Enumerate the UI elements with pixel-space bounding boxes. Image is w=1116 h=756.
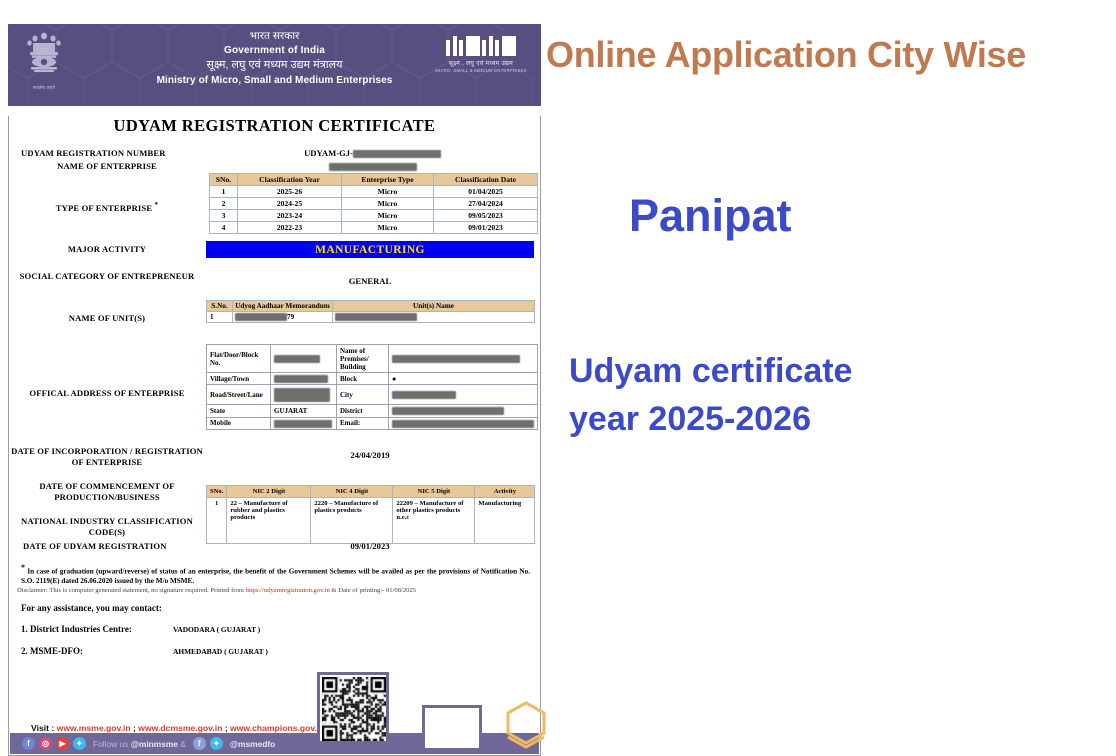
visit-link-dcmsme[interactable]: www.dcmsme.gov.in bbox=[138, 723, 222, 733]
twitter-icon[interactable]: ✦ bbox=[73, 737, 86, 750]
redacted-enterprise-name bbox=[329, 163, 417, 171]
assistance-heading: For any assistance, you may contact: bbox=[21, 603, 162, 613]
cell-activity: Manufacturing bbox=[475, 498, 535, 544]
cell-sno: 1 bbox=[207, 498, 227, 544]
reg-number-value: UDYAM-GJ- bbox=[205, 148, 540, 158]
follow-text: Follow us @minmsme & bbox=[93, 739, 186, 749]
msme-logo: सूक्ष्म , लघु एवं मध्यम उद्यम MICRO, SMA… bbox=[429, 34, 533, 73]
block-label: Block bbox=[337, 373, 389, 385]
col-classification-year: Classification Year bbox=[238, 174, 342, 186]
redacted-village bbox=[274, 375, 328, 383]
email-value bbox=[389, 417, 538, 429]
col-uam: Udyog Aadhaar Memorandum bbox=[233, 301, 333, 312]
ampersand: & bbox=[178, 739, 186, 749]
table-header-row: SNo. Classification Year Enterprise Type… bbox=[210, 174, 538, 186]
twitter-icon[interactable]: ✦ bbox=[210, 737, 223, 750]
handle-minmsme: @minmsme bbox=[131, 739, 178, 749]
redacted-uam bbox=[235, 313, 287, 321]
col-activity: Activity bbox=[475, 486, 535, 498]
name-of-units-label: NAME OF UNIT(S) bbox=[9, 313, 205, 324]
date-commencement-label: DATE OF COMMENCEMENT OF PRODUCTION/BUSIN… bbox=[9, 481, 205, 502]
reg-number-prefix: UDYAM-GJ- bbox=[304, 148, 353, 158]
table-row: 1 22 – Manufacture of rubber and plastic… bbox=[207, 498, 535, 544]
table-row: 1 79 bbox=[207, 312, 535, 323]
col-sno: S.No. bbox=[207, 301, 233, 312]
cell-date: 01/04/2025 bbox=[434, 186, 538, 198]
col-enterprise-type: Enterprise Type bbox=[342, 174, 434, 186]
date-incorporation-label: DATE OF INCORPORATION / REGISTRATION OF … bbox=[9, 446, 205, 467]
cell-year: 2023-24 bbox=[238, 210, 342, 222]
cell-year: 2025-26 bbox=[238, 186, 342, 198]
redacted-mobile bbox=[274, 420, 332, 428]
cell-sno: 1 bbox=[207, 312, 233, 323]
email-label: Email: bbox=[337, 417, 389, 429]
ministry-english: Ministry of Micro, Small and Medium Ente… bbox=[8, 74, 541, 88]
social-category-value: GENERAL bbox=[206, 276, 534, 286]
table-row: State GUJARAT District bbox=[207, 405, 538, 417]
major-activity-value: MANUFACTURING bbox=[206, 241, 534, 258]
date-incorporation-value: 24/04/2019 bbox=[206, 450, 534, 460]
signature-box bbox=[422, 705, 482, 751]
qr-canvas bbox=[322, 677, 386, 741]
nic-table-wrapper: SNo. NIC 2 Digit NIC 4 Digit NIC 5 Digit… bbox=[206, 485, 535, 544]
cell-sno: 4 bbox=[210, 222, 238, 234]
col-classification-date: Classification Date bbox=[434, 174, 538, 186]
units-table: S.No. Udyog Aadhaar Memorandum Unit(s) N… bbox=[206, 300, 535, 323]
cell-date: 27/04/2024 bbox=[434, 198, 538, 210]
table-row: 2 2024-25 Micro 27/04/2024 bbox=[210, 198, 538, 210]
premises-value bbox=[389, 345, 538, 373]
qr-code[interactable] bbox=[317, 672, 389, 744]
visit-sep: ; bbox=[222, 723, 230, 733]
district-label: District bbox=[337, 405, 389, 417]
msme-sub-hindi: सूक्ष्म , लघु एवं मध्यम उद्यम bbox=[429, 59, 533, 67]
type-of-enterprise-label: TYPE OF ENTERPRISE * bbox=[9, 201, 205, 214]
handle-msmedfo: @msmedfo bbox=[230, 739, 275, 749]
contact-dic: 1. District Industries Centre: VADODARA … bbox=[21, 624, 132, 634]
block-value: ● bbox=[389, 373, 538, 385]
facebook-icon[interactable]: f bbox=[22, 737, 35, 750]
cell-type: Micro bbox=[342, 186, 434, 198]
redacted-flat bbox=[274, 355, 320, 363]
classification-table-wrapper: SNo. Classification Year Enterprise Type… bbox=[209, 173, 538, 234]
cell-sno: 3 bbox=[210, 210, 238, 222]
cell-nic5: 22209 – Manufacture of other plastics pr… bbox=[393, 498, 475, 544]
cell-year: 2024-25 bbox=[238, 198, 342, 210]
cell-date: 09/01/2023 bbox=[434, 222, 538, 234]
table-row: 4 2022-23 Micro 09/01/2023 bbox=[210, 222, 538, 234]
classification-table: SNo. Classification Year Enterprise Type… bbox=[209, 173, 538, 234]
msme-sub-english: MICRO, SMALL & MEDIUM ENTERPRISES bbox=[429, 68, 533, 73]
msme-wordmark-icon bbox=[429, 34, 533, 56]
disclaimer-suffix: & Date of printing:- 01/08/2025 bbox=[330, 587, 416, 594]
cell-unit-name bbox=[333, 312, 535, 323]
table-header-row: SNo. NIC 2 Digit NIC 4 Digit NIC 5 Digit… bbox=[207, 486, 535, 498]
premises-label: Name of Premises/ Building bbox=[337, 345, 389, 373]
redacted-road bbox=[274, 388, 330, 402]
contact-dfo: 2. MSME-DFO: AHMEDABAD ( GUJARAT ) bbox=[21, 646, 83, 656]
follow-label: Follow us bbox=[93, 739, 131, 749]
social-category-label: SOCIAL CATEGORY OF ENTREPRENEUR bbox=[9, 271, 205, 282]
table-header-row: S.No. Udyog Aadhaar Memorandum Unit(s) N… bbox=[207, 301, 535, 312]
reg-number-label: UDYAM REGISTRATION NUMBER bbox=[9, 148, 205, 159]
certificate-body: UDYAM REGISTRATION CERTIFICATE UDYAM REG… bbox=[8, 116, 541, 756]
col-nic5: NIC 5 Digit bbox=[393, 486, 475, 498]
certificate-title: UDYAM REGISTRATION CERTIFICATE bbox=[9, 116, 540, 136]
address-table: Flat/Door/Block No. Name of Premises/ Bu… bbox=[206, 344, 538, 430]
district-value bbox=[389, 405, 538, 417]
col-nic2: NIC 2 Digit bbox=[227, 486, 311, 498]
village-label: Village/Town bbox=[207, 373, 271, 385]
table-row: Village/Town Block ● bbox=[207, 373, 538, 385]
contact-dic-label: 1. District Industries Centre: bbox=[21, 624, 132, 634]
cell-nic2: 22 – Manufacture of rubber and plastics … bbox=[227, 498, 311, 544]
official-address-label: OFFICAL ADDRESS OF ENTERPRISE bbox=[9, 388, 205, 399]
city-label: City bbox=[337, 385, 389, 405]
asterisk-icon: * bbox=[21, 563, 25, 572]
date-udyam-registration-label: DATE OF UDYAM REGISTRATION bbox=[9, 541, 205, 552]
table-row: Mobile Email: bbox=[207, 417, 538, 429]
cell-sno: 1 bbox=[210, 186, 238, 198]
contact-dfo-value: AHMEDABAD ( GUJARAT ) bbox=[173, 647, 268, 656]
flat-value bbox=[271, 345, 337, 373]
contact-dic-value: VADODARA ( GUJARAT ) bbox=[173, 625, 260, 634]
disclaimer-prefix: Disclaimer: This is computer generated s… bbox=[17, 587, 246, 594]
state-label: State bbox=[207, 405, 271, 417]
graduation-note: * In case of graduation (upward/reverse)… bbox=[21, 563, 530, 587]
cell-uam: 79 bbox=[233, 312, 333, 323]
disclaimer: Disclaimer: This is computer generated s… bbox=[17, 587, 532, 596]
redacted-district bbox=[392, 407, 504, 415]
visit-prefix: Visit : bbox=[31, 723, 57, 733]
visit-link-champions[interactable]: www.champions.gov.in bbox=[230, 723, 325, 733]
enterprise-name-value bbox=[205, 161, 540, 171]
nic-table: SNo. NIC 2 Digit NIC 4 Digit NIC 5 Digit… bbox=[206, 485, 535, 544]
road-label: Road/Street/Lane bbox=[207, 385, 271, 405]
cell-year: 2022-23 bbox=[238, 222, 342, 234]
redacted-premises bbox=[392, 355, 520, 363]
enterprise-name-label: NAME OF ENTERPRISE bbox=[9, 161, 205, 172]
promo-city-name: Panipat bbox=[629, 190, 792, 242]
flat-label: Flat/Door/Block No. bbox=[207, 345, 271, 373]
table-row: 1 2025-26 Micro 01/04/2025 bbox=[210, 186, 538, 198]
udyam-certificate: सत्यमेव जयते भारत सरकार Government of In… bbox=[8, 24, 541, 746]
redacted-city bbox=[392, 391, 456, 399]
nic-label: NATIONAL INDUSTRY CLASSIFICATION CODE(S) bbox=[9, 516, 205, 537]
city-value bbox=[389, 385, 538, 405]
promo-subtitle-line2: year 2025-2026 bbox=[569, 395, 852, 443]
youtube-icon[interactable]: ▶ bbox=[56, 737, 69, 750]
visit-link-msme[interactable]: www.msme.gov.in bbox=[57, 723, 131, 733]
contact-dfo-label: 2. MSME-DFO: bbox=[21, 646, 83, 656]
hexagon-decoration-icon bbox=[474, 695, 546, 755]
col-sno: SNo. bbox=[207, 486, 227, 498]
table-row: Road/Street/Lane City bbox=[207, 385, 538, 405]
address-table-wrapper: Flat/Door/Block No. Name of Premises/ Bu… bbox=[206, 344, 538, 430]
state-value: GUJARAT bbox=[271, 405, 337, 417]
cell-date: 09/05/2023 bbox=[434, 210, 538, 222]
promo-title: Online Application City Wise bbox=[546, 34, 1116, 76]
col-nic4: NIC 4 Digit bbox=[311, 486, 393, 498]
mobile-value bbox=[271, 417, 337, 429]
certificate-header: सत्यमेव जयते भारत सरकार Government of In… bbox=[8, 24, 541, 106]
date-udyam-registration-value: 09/01/2023 bbox=[206, 541, 534, 551]
col-sno: SNo. bbox=[210, 174, 238, 186]
cell-type: Micro bbox=[342, 222, 434, 234]
facebook-icon[interactable]: f bbox=[193, 737, 206, 750]
redacted-reg-number bbox=[353, 150, 441, 158]
cell-type: Micro bbox=[342, 210, 434, 222]
udyam-registration-link[interactable]: https://udyamregistration.gov.in bbox=[246, 587, 330, 594]
promo-subtitle: Udyam certificate year 2025-2026 bbox=[569, 347, 852, 444]
redacted-email bbox=[392, 420, 534, 428]
col-unit-name: Unit(s) Name bbox=[333, 301, 535, 312]
mobile-label: Mobile bbox=[207, 417, 271, 429]
note-text: In case of graduation (upward/reverse) o… bbox=[21, 567, 530, 585]
promo-subtitle-line1: Udyam certificate bbox=[569, 347, 852, 395]
table-row: Flat/Door/Block No. Name of Premises/ Bu… bbox=[207, 345, 538, 373]
major-activity-label: MAJOR ACTIVITY bbox=[9, 244, 205, 255]
units-table-wrapper: S.No. Udyog Aadhaar Memorandum Unit(s) N… bbox=[206, 300, 535, 323]
redacted-unit-name bbox=[335, 313, 417, 321]
village-value bbox=[271, 373, 337, 385]
table-row: 3 2023-24 Micro 09/05/2023 bbox=[210, 210, 538, 222]
promo-panel: Online Application City Wise Panipat Udy… bbox=[541, 0, 1116, 753]
cell-sno: 2 bbox=[210, 198, 238, 210]
cell-nic4: 2220 – Manufacture of plastics products bbox=[311, 498, 393, 544]
road-value bbox=[271, 385, 337, 405]
cell-type: Micro bbox=[342, 198, 434, 210]
instagram-icon[interactable]: ◎ bbox=[39, 737, 52, 750]
